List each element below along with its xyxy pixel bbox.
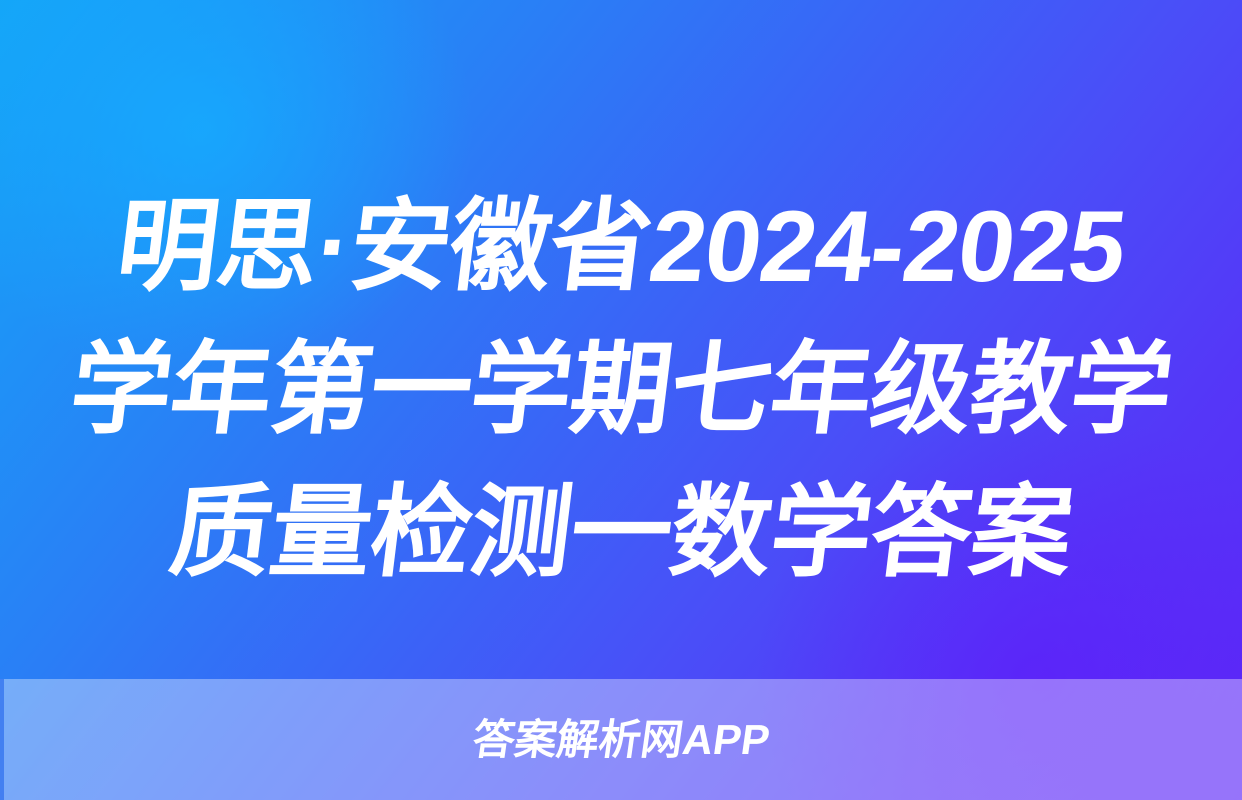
footer-brand-label: 答案解析网APP xyxy=(469,716,772,764)
footer-left-edge-accent xyxy=(0,679,4,800)
page-title: 明思·安徽省2024-2025 学年第一学期七年级教学 质量检测一数学答案 xyxy=(0,176,1242,605)
title-line-2: 学年第一学期七年级教学 xyxy=(31,319,1211,462)
title-line-1: 明思·安徽省2024-2025 xyxy=(31,176,1211,319)
poster-canvas: 明思·安徽省2024-2025 学年第一学期七年级教学 质量检测一数学答案 答案… xyxy=(0,0,1242,800)
footer-brand-bar: 答案解析网APP xyxy=(0,679,1242,800)
title-line-3: 质量检测一数学答案 xyxy=(31,462,1211,605)
